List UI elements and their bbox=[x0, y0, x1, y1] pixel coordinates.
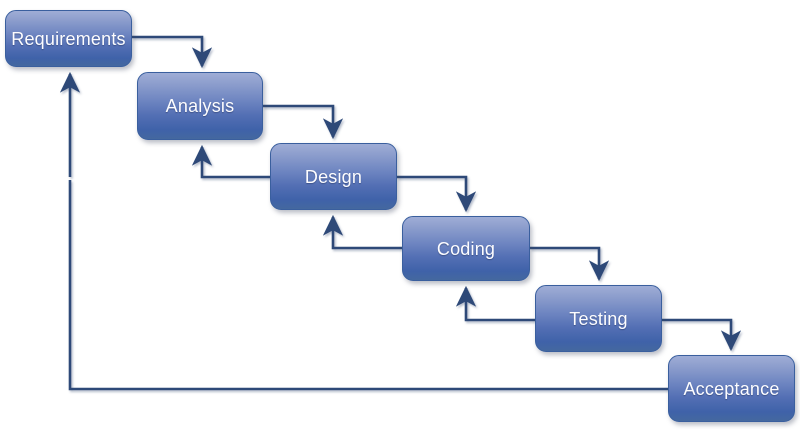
stage-box-testing[interactable]: Testing bbox=[535, 285, 662, 352]
stage-box-coding[interactable]: Coding bbox=[402, 216, 530, 281]
waterfall-diagram: Requirements Analysis Design Coding Test… bbox=[0, 0, 800, 430]
stage-box-design[interactable]: Design bbox=[270, 143, 397, 210]
stage-box-acceptance[interactable]: Acceptance bbox=[668, 355, 795, 422]
connector-testing-to-coding bbox=[466, 288, 535, 320]
connector-testing-to-acceptance bbox=[662, 320, 731, 349]
stage-box-requirements[interactable]: Requirements bbox=[5, 10, 132, 67]
connector-design-to-coding bbox=[397, 177, 466, 210]
connector-analysis-to-design bbox=[263, 106, 333, 137]
connector-coding-to-design bbox=[333, 217, 402, 248]
stage-label-testing: Testing bbox=[569, 310, 627, 328]
stage-label-acceptance: Acceptance bbox=[683, 380, 779, 398]
connector-design-to-analysis bbox=[202, 147, 270, 177]
connector-coding-to-testing bbox=[530, 248, 599, 279]
stage-label-design: Design bbox=[305, 168, 362, 186]
stage-box-analysis[interactable]: Analysis bbox=[137, 72, 263, 140]
connector-requirements-to-analysis bbox=[132, 37, 202, 66]
stage-label-coding: Coding bbox=[437, 240, 495, 258]
stage-label-requirements: Requirements bbox=[11, 30, 125, 48]
stage-label-analysis: Analysis bbox=[166, 97, 235, 115]
